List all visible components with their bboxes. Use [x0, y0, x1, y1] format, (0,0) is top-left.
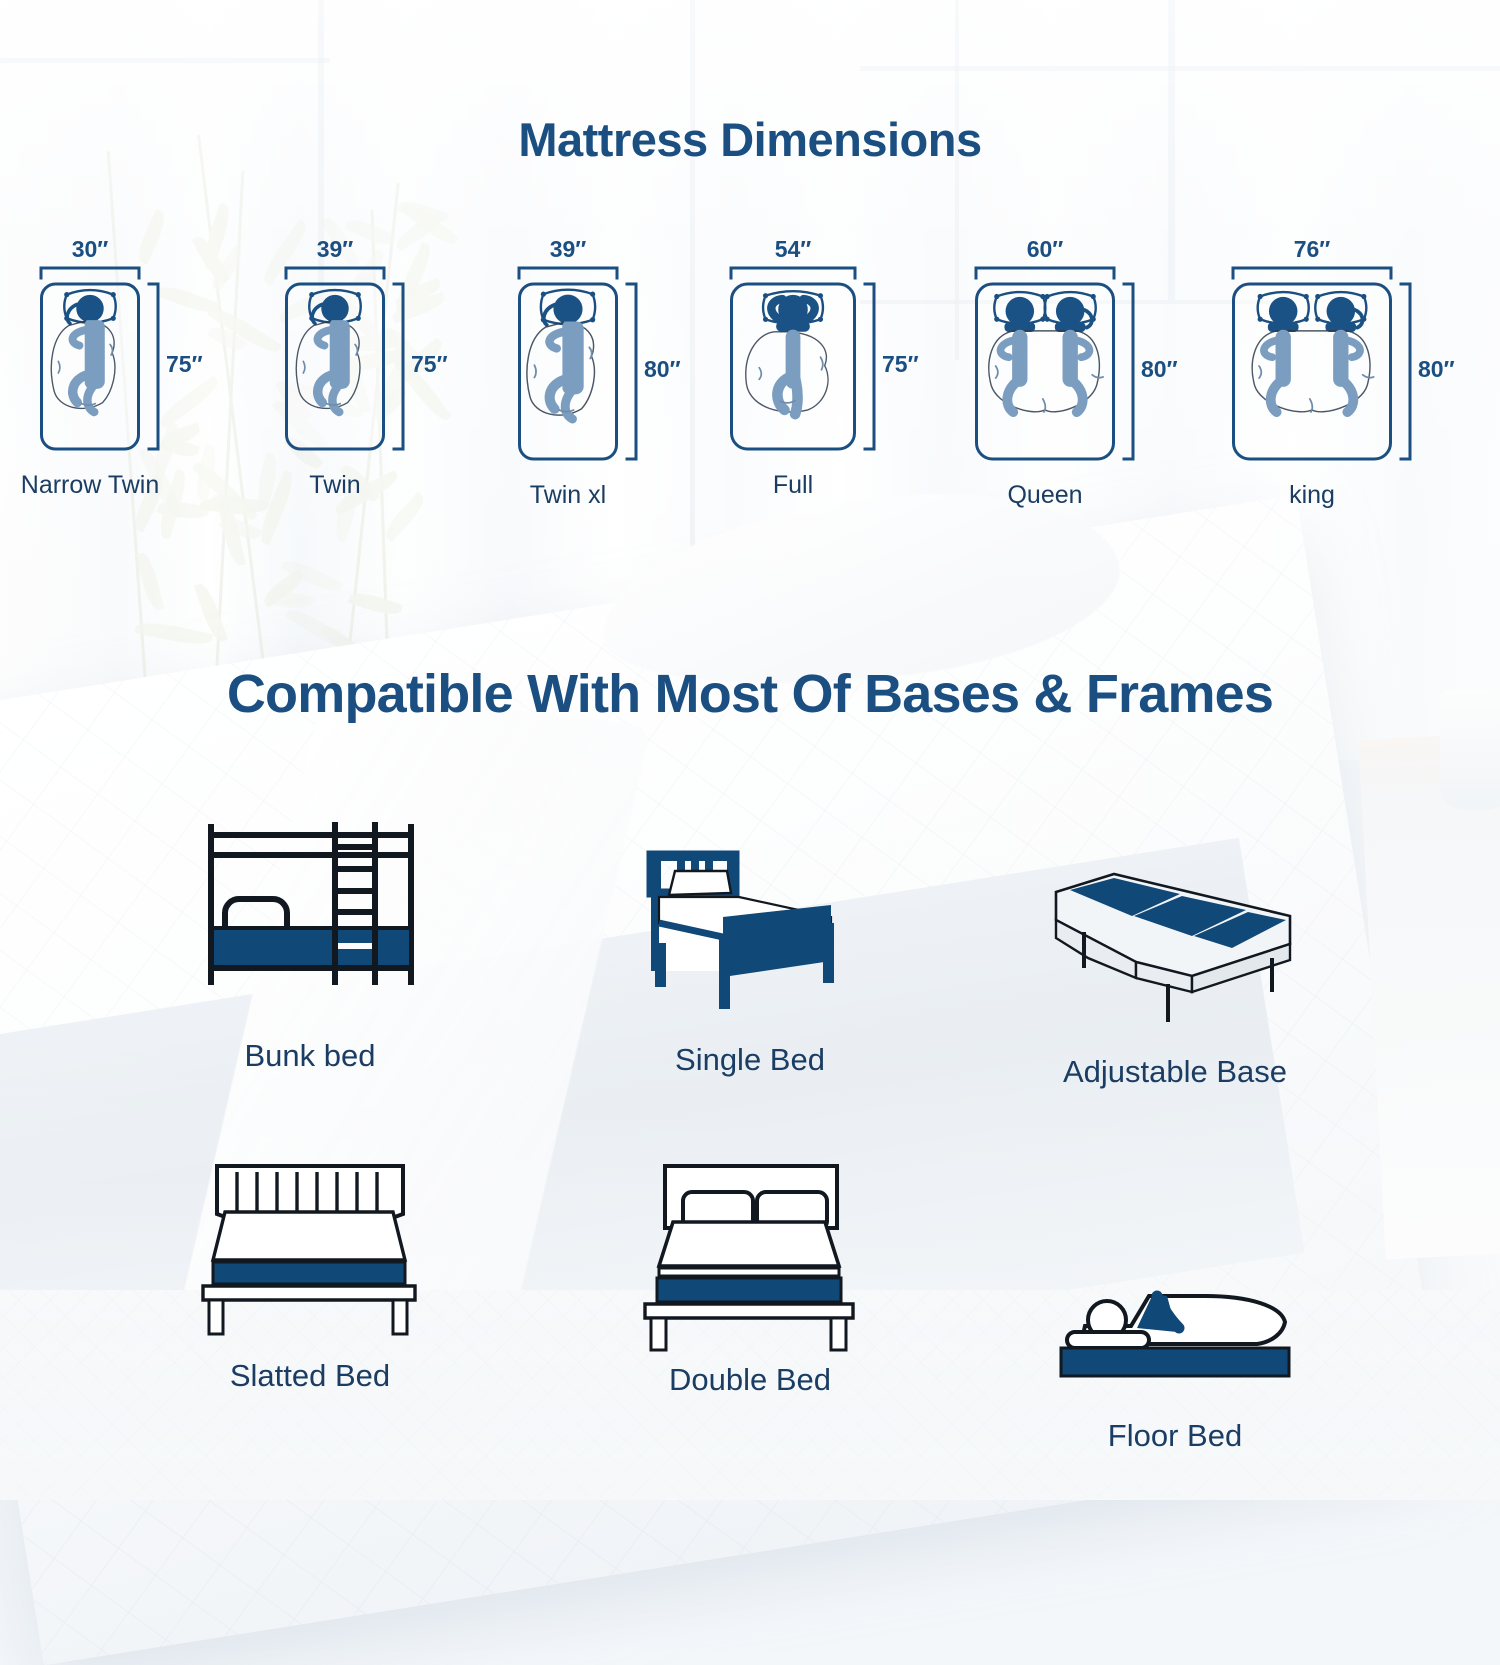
size-name-label: Twin — [255, 471, 415, 500]
bunk-bed-icon-wrapper — [150, 810, 470, 1032]
page-title-compatible: Compatible With Most Of Bases & Frames — [0, 663, 1500, 725]
compatible-item-slatted-bed: Slatted Bed — [150, 1130, 470, 1394]
mattress-top-view-diagram — [285, 264, 415, 453]
size-name-label: Twin xl — [488, 481, 648, 510]
width-bracket — [519, 268, 617, 278]
compatible-item-label: Bunk bed — [150, 1038, 470, 1074]
size-height-label: 80″ — [1418, 356, 1455, 383]
double-bed-icon — [625, 1156, 875, 1356]
mattress-top-view-diagram — [518, 264, 648, 463]
compatible-item-bunk-bed: Bunk bed — [150, 810, 470, 1074]
single-bed-icon — [635, 831, 865, 1036]
size-name-label: Full — [700, 471, 886, 500]
adjustable-base-icon — [1040, 858, 1310, 1048]
size-width-label: 76″ — [1222, 236, 1402, 263]
floor-bed-icon — [1045, 1282, 1305, 1412]
slatted-bed-icon — [185, 1152, 435, 1352]
width-bracket — [731, 268, 855, 278]
height-bracket — [149, 284, 158, 449]
compatible-item-label: Single Bed — [590, 1042, 910, 1078]
size-width-label: 60″ — [965, 236, 1125, 263]
height-bracket — [1401, 284, 1410, 459]
floor-bed-icon-wrapper — [1010, 1190, 1340, 1412]
double-bed-icon-wrapper — [590, 1134, 910, 1356]
size-width-label: 39″ — [275, 236, 395, 263]
height-bracket — [627, 284, 636, 459]
size-height-label: 75″ — [166, 351, 203, 378]
width-bracket — [41, 268, 139, 278]
height-bracket — [394, 284, 403, 449]
size-width-label: 54″ — [720, 236, 866, 263]
size-height-label: 75″ — [411, 351, 448, 378]
width-bracket — [976, 268, 1114, 278]
compatible-item-label: Slatted Bed — [150, 1358, 470, 1394]
mattress-top-view-diagram — [40, 264, 170, 453]
size-width-label: 39″ — [508, 236, 628, 263]
page-title-dimensions: Mattress Dimensions — [0, 112, 1500, 167]
single-bed-icon-wrapper — [590, 814, 910, 1036]
bunk-bed-icon — [185, 817, 435, 1032]
compatible-item-double-bed: Double Bed — [590, 1134, 910, 1398]
width-bracket — [286, 268, 384, 278]
compatible-item-adjustable-base: Adjustable Base — [1010, 826, 1340, 1090]
compatible-item-floor-bed: Floor Bed — [1010, 1190, 1340, 1454]
mattress-top-view-diagram — [730, 264, 886, 453]
size-name-label: Narrow Twin — [10, 471, 170, 500]
width-bracket — [1233, 268, 1391, 278]
size-height-label: 80″ — [644, 356, 681, 383]
mattress-top-view-diagram — [1232, 264, 1422, 463]
slatted-bed-icon-wrapper — [150, 1130, 470, 1352]
compatible-item-label: Floor Bed — [1010, 1418, 1340, 1454]
height-bracket — [865, 284, 874, 449]
size-name-label: king — [1202, 481, 1422, 510]
compatible-item-single-bed: Single Bed — [590, 814, 910, 1078]
size-height-label: 75″ — [882, 351, 919, 378]
compatible-item-label: Adjustable Base — [1010, 1054, 1340, 1090]
size-name-label: Queen — [945, 481, 1145, 510]
size-height-label: 80″ — [1141, 356, 1178, 383]
mattress-size-row: 30″ 75″ Narrow — [0, 236, 1500, 501]
size-width-label: 30″ — [30, 236, 150, 263]
mattress-top-view-diagram — [975, 264, 1145, 463]
compatible-item-label: Double Bed — [590, 1362, 910, 1398]
height-bracket — [1124, 284, 1133, 459]
adjustable-base-icon-wrapper — [1010, 826, 1340, 1048]
